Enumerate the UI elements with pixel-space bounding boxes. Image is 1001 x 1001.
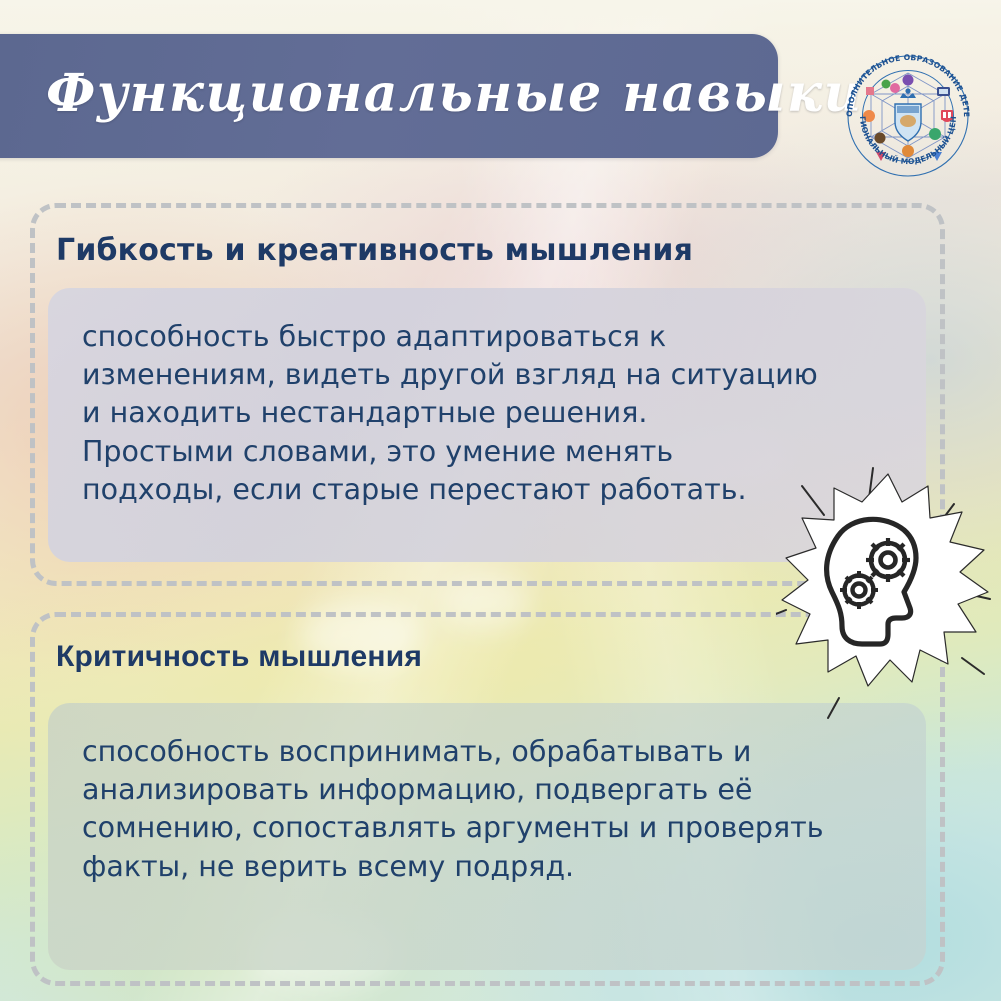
organization-logo: ДОПОЛНИТЕЛЬНОЕ ОБРАЗОВАНИЕ ДЕТЕЙ РЕГИОНА… bbox=[836, 42, 980, 186]
page-title: Функциональные навыки bbox=[0, 63, 778, 124]
section-body-critical-thinking: способность воспринимать, обрабатывать и… bbox=[82, 733, 892, 886]
head-with-gears-icon bbox=[776, 452, 1000, 720]
header-banner: Функциональные навыки bbox=[0, 34, 778, 158]
section-heading-flexibility: Гибкость и креативность мышления bbox=[56, 233, 693, 268]
poster-canvas: Функциональные навыки bbox=[0, 0, 1001, 1001]
section-body-flexibility: способность быстро адаптироваться к изме… bbox=[82, 318, 892, 509]
section-heading-critical-thinking: Критичность мышления bbox=[56, 640, 422, 674]
section-card-critical-thinking: способность воспринимать, обрабатывать и… bbox=[48, 703, 926, 970]
